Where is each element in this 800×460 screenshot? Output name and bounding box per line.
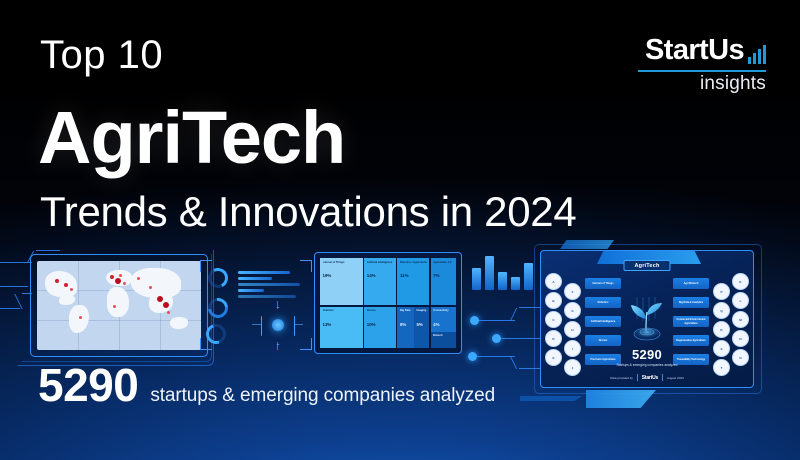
circuit-trace-frame bbox=[534, 244, 762, 394]
treemap-cell-value: 13% bbox=[323, 322, 332, 327]
hud-bar bbox=[238, 289, 264, 292]
treemap-cell[interactable]: Robotics / Agrirobotics 11% bbox=[397, 258, 429, 305]
treemap-cell-value: 4% bbox=[433, 322, 439, 327]
treemap-cell[interactable]: Artificial Intelligence 14% bbox=[364, 258, 396, 305]
bar-chart-icon bbox=[748, 48, 766, 67]
world-map-panel[interactable] bbox=[30, 254, 208, 357]
treemap-cell[interactable]: Big Data 8% Imaging 5% bbox=[397, 307, 429, 348]
circuit-trace bbox=[0, 308, 20, 309]
bar bbox=[498, 272, 507, 290]
page-title: AgriTech bbox=[38, 95, 345, 180]
treemap-cell-value: 5% bbox=[416, 322, 422, 327]
gauge-2 bbox=[204, 294, 232, 322]
poster-canvas: Top 10 AgriTech Trends & Innovations in … bbox=[0, 0, 800, 460]
treemap-cell-label: Agriculture 4.0 bbox=[433, 261, 453, 264]
treemap-cell[interactable]: Connectivity 4% Biotech bbox=[431, 307, 456, 348]
treemap-cell[interactable]: Agriculture 4.0 7% bbox=[431, 258, 456, 305]
bracket-corner bbox=[300, 260, 312, 272]
bracket-corner bbox=[300, 338, 312, 350]
treemap-cell-label: Biotech bbox=[433, 334, 453, 337]
hud-bar bbox=[238, 283, 300, 286]
startus-insights-logo[interactable]: StartUs insights bbox=[638, 36, 766, 95]
treemap-cell-value: 10% bbox=[367, 322, 376, 327]
hud-bar bbox=[238, 295, 296, 298]
logo-row: StartUs bbox=[638, 36, 766, 67]
page-subtitle: Trends & Innovations in 2024 bbox=[40, 188, 576, 236]
decor-parallelogram bbox=[560, 240, 614, 249]
logo-underline bbox=[638, 70, 766, 72]
hud-bar bbox=[238, 277, 272, 280]
world-map bbox=[37, 261, 201, 350]
circuit-trace bbox=[510, 356, 517, 369]
treemap-cell[interactable]: Robotics 13% bbox=[320, 307, 363, 348]
decor-parallelogram bbox=[520, 396, 582, 401]
decor-parallelogram bbox=[586, 390, 656, 408]
bar bbox=[472, 268, 481, 290]
bar bbox=[511, 277, 520, 290]
treemap-cell[interactable]: Drones 10% bbox=[364, 307, 396, 348]
stat-number: 5290 bbox=[38, 358, 138, 412]
mini-bar-chart bbox=[472, 254, 534, 290]
hexagon-node-icon bbox=[256, 304, 300, 348]
treemap-cell-value: 11% bbox=[400, 273, 409, 278]
hud-bar bbox=[238, 271, 290, 274]
treemap-cell-value: 8% bbox=[400, 322, 406, 327]
logo-brand: StartUs bbox=[645, 36, 744, 67]
treemap-cell-value: 14% bbox=[367, 273, 376, 278]
treemap-cell-value: 19% bbox=[323, 273, 332, 278]
treemap-cell[interactable]: Internet of Things 19% bbox=[320, 258, 363, 305]
eyebrow-heading: Top 10 bbox=[40, 33, 163, 78]
stat-line: 5290 startups & emerging companies analy… bbox=[38, 358, 495, 412]
bar bbox=[524, 263, 533, 290]
treemap-cell-value: 7% bbox=[433, 273, 439, 278]
treemap-cell-label: Robotics / Agrirobotics bbox=[400, 261, 427, 264]
treemap-cell-label: Drones bbox=[367, 309, 394, 312]
treemap-panel[interactable]: Internet of Things 19% Artificial Intell… bbox=[314, 252, 462, 354]
treemap-cell-label: Robotics bbox=[323, 309, 361, 312]
bar bbox=[485, 256, 494, 290]
treemap-cell-label: Connectivity bbox=[433, 309, 453, 312]
stat-caption: startups & emerging companies analyzed bbox=[150, 385, 495, 407]
logo-sub: insights bbox=[638, 73, 766, 95]
treemap-cell[interactable]: Biotech bbox=[431, 332, 456, 348]
treemap-cell-label: Imaging bbox=[416, 309, 426, 312]
treemap-cell-label: Artificial Intelligence bbox=[367, 261, 394, 264]
hud-analytics-panel[interactable] bbox=[200, 254, 312, 358]
treemap-cell-label: Internet of Things bbox=[323, 261, 361, 264]
treemap-cell[interactable]: Imaging 5% bbox=[414, 307, 429, 348]
treemap-chart: Internet of Things 19% Artificial Intell… bbox=[320, 258, 456, 348]
circuit-node bbox=[470, 316, 479, 325]
circuit-node bbox=[492, 334, 501, 343]
